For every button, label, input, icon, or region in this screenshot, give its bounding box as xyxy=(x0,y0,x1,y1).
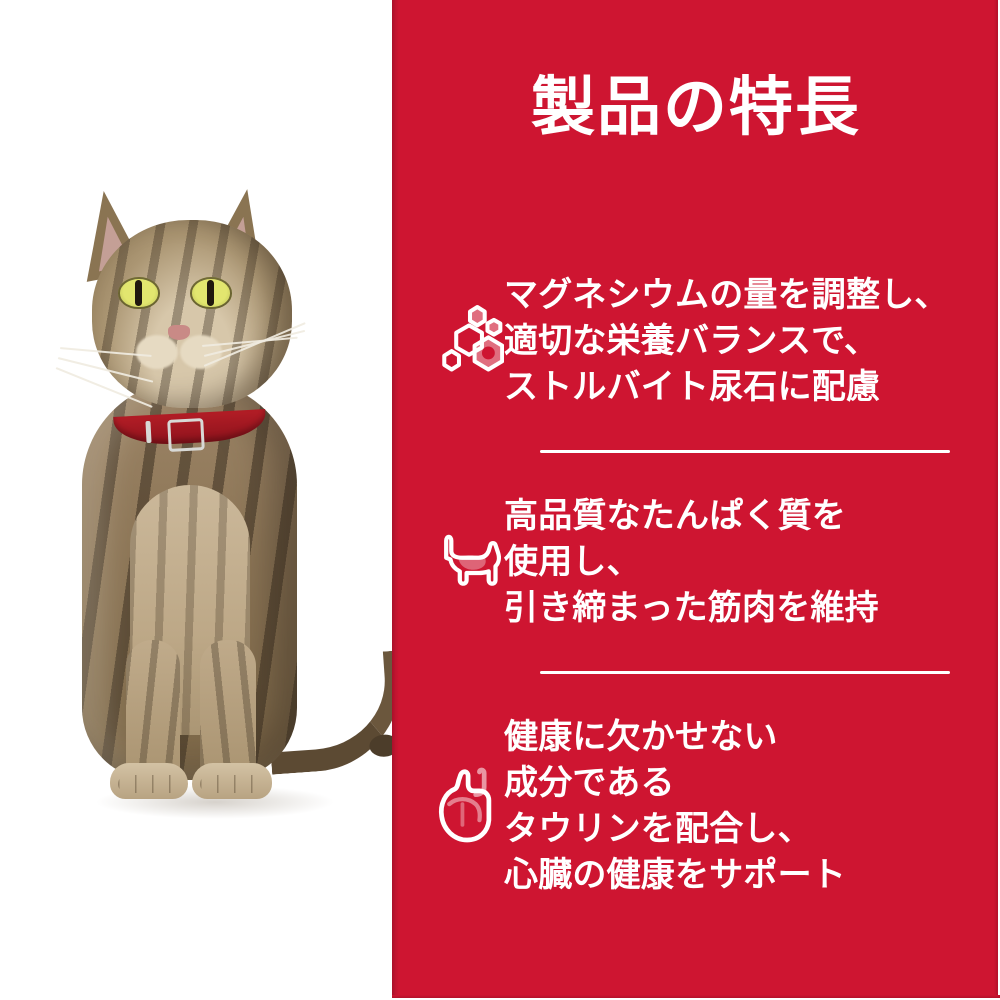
feature-list: マグネシウムの量を調整し、 適切な栄養バランスで、 ストルバイト尿石に配慮 高品… xyxy=(392,272,1000,898)
feature-item-taurine: 健康に欠かせない 成分である タウリンを配合し、 心臓の健康をサポート xyxy=(392,714,1000,898)
product-photo-area xyxy=(0,0,392,1000)
spacer xyxy=(392,453,1000,493)
product-feature-banner: 製品の特長 xyxy=(0,0,1000,1000)
page-title: 製品の特長 xyxy=(392,74,1000,141)
cat-head xyxy=(92,220,292,408)
spacer xyxy=(392,631,1000,671)
cat-collar-buckle xyxy=(167,418,205,452)
cat-collar-stud xyxy=(145,421,151,443)
feature-item-protein: 高品質なたんぱく質を 使用し、 引き締まった筋肉を維持 xyxy=(392,493,1000,631)
cat-paw-left xyxy=(110,763,188,799)
feature-text-magnesium: マグネシウムの量を調整し、 適切な栄養バランスで、 ストルバイト尿石に配慮 xyxy=(504,272,967,410)
cat-muzzle-left xyxy=(136,335,178,369)
spacer xyxy=(392,674,1000,714)
molecule-hexagon-icon xyxy=(392,302,504,380)
cat-photo xyxy=(40,185,385,850)
cat-nose xyxy=(168,325,190,340)
feature-text-taurine: 健康に欠かせない 成分である タウリンを配合し、 心臓の健康をサポート xyxy=(504,714,864,898)
cat-eye-right xyxy=(190,277,232,309)
cat-eye-left xyxy=(118,277,160,309)
cat-paw-right xyxy=(192,763,272,799)
heart-anatomy-icon xyxy=(392,764,504,848)
panel-bottom-edge xyxy=(392,995,1000,1000)
cat-silhouette-icon xyxy=(392,527,504,597)
spacer xyxy=(392,410,1000,450)
feature-item-magnesium: マグネシウムの量を調整し、 適切な栄養バランスで、 ストルバイト尿石に配慮 xyxy=(392,272,1000,410)
feature-text-protein: 高品質なたんぱく質を 使用し、 引き締まった筋肉を維持 xyxy=(504,493,897,631)
feature-panel: 製品の特長 xyxy=(392,0,1000,1000)
